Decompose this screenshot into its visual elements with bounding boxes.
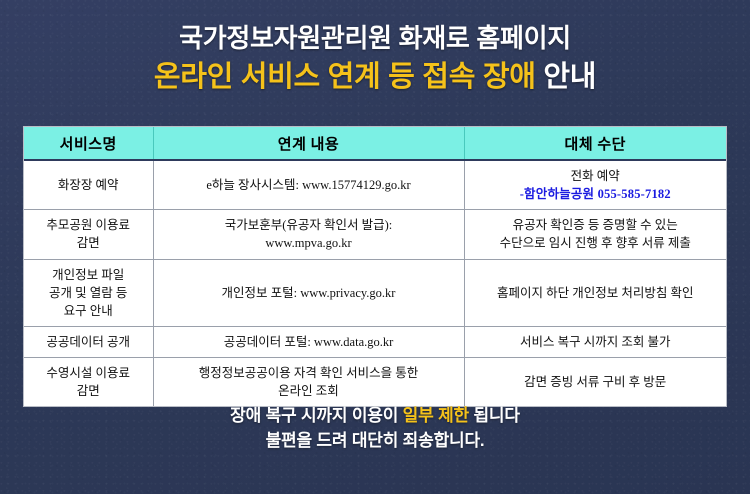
poster-title: 국가정보자원관리원 화재로 홈페이지 온라인 서비스 연계 등 접속 장애 안내: [0, 22, 750, 96]
cell-alternative-means: 전화 예약 -함안하늘공원 055-585-7182: [464, 160, 726, 210]
table-row: 수영시설 이용료 감면 행정정보공공이용 자격 확인 서비스을 통한 온라인 조…: [24, 358, 726, 407]
service-line-2: 감면: [29, 234, 148, 252]
service-table: 서비스명 연계 내용 대체 수단 화장장 예약 e하늘 장사시스템: www.1…: [24, 127, 726, 406]
table-header: 서비스명 연계 내용 대체 수단: [24, 127, 726, 160]
cell-alternative-means: 감면 증빙 서류 구비 후 방문: [464, 358, 726, 407]
poster-footer: 장애 복구 시까지 이용이 일부 제한 됩니다 불편을 드려 대단히 죄송합니다…: [0, 404, 750, 453]
cell-link-content: 개인정보 포털: www.privacy.go.kr: [153, 259, 464, 326]
cell-link-content: 행정정보공공이용 자격 확인 서비스을 통한 온라인 조회: [153, 358, 464, 407]
cell-link-content: 국가보훈부(유공자 확인서 발급): www.mpva.go.kr: [153, 210, 464, 259]
link-line-2: 온라인 조회: [159, 382, 459, 400]
cell-service-name: 화장장 예약: [24, 160, 153, 210]
cell-service-name: 공공데이터 공개: [24, 326, 153, 357]
cell-link-content: e하늘 장사시스템: www.15774129.go.kr: [153, 160, 464, 210]
table-row: 공공데이터 공개 공공데이터 포털: www.data.go.kr 서비스 복구…: [24, 326, 726, 357]
service-line-2: 공개 및 열람 등: [29, 284, 148, 302]
service-line-1: 추모공원 이용료: [29, 216, 148, 234]
alt-line-1: 전화 예약: [470, 167, 722, 185]
service-line-2: 감면: [29, 382, 148, 400]
cell-alternative-means: 홈페이지 하단 개인정보 처리방침 확인: [464, 259, 726, 326]
table-row: 개인정보 파일 공개 및 열람 등 요구 안내 개인정보 포털: www.pri…: [24, 259, 726, 326]
table-body: 화장장 예약 e하늘 장사시스템: www.15774129.go.kr 전화 …: [24, 160, 726, 406]
link-line-1: 행정정보공공이용 자격 확인 서비스을 통한: [159, 364, 459, 382]
footer-suffix: 됩니다: [469, 406, 520, 425]
column-header-service-name: 서비스명: [24, 127, 153, 160]
alt-line-1: 유공자 확인증 등 증명할 수 있는: [470, 216, 722, 234]
service-line-1: 수영시설 이용료: [29, 364, 148, 382]
title-line-2: 온라인 서비스 연계 등 접속 장애 안내: [0, 59, 750, 96]
table-header-row: 서비스명 연계 내용 대체 수단: [24, 127, 726, 160]
column-header-link-content: 연계 내용: [153, 127, 464, 160]
title-tail: 안내: [536, 61, 597, 93]
footer-prefix: 장애 복구 시까지 이용이: [230, 406, 403, 425]
link-line-1: 국가보훈부(유공자 확인서 발급):: [159, 216, 459, 234]
cell-service-name: 추모공원 이용료 감면: [24, 210, 153, 259]
table-row: 화장장 예약 e하늘 장사시스템: www.15774129.go.kr 전화 …: [24, 160, 726, 210]
link-line-2: www.mpva.go.kr: [159, 234, 459, 252]
footer-line-2: 불편을 드려 대단히 죄송합니다.: [0, 429, 750, 454]
alt-line-2: 수단으로 임시 진행 후 향후 서류 제출: [470, 234, 722, 252]
title-line-1: 국가정보자원관리원 화재로 홈페이지: [0, 22, 750, 55]
cell-link-content: 공공데이터 포털: www.data.go.kr: [153, 326, 464, 357]
service-line-3: 요구 안내: [29, 302, 148, 320]
cell-service-name: 개인정보 파일 공개 및 열람 등 요구 안내: [24, 259, 153, 326]
alt-phone-contact: -함안하늘공원 055-585-7182: [470, 185, 722, 203]
service-line-1: 개인정보 파일: [29, 266, 148, 284]
service-table-container: 서비스명 연계 내용 대체 수단 화장장 예약 e하늘 장사시스템: www.1…: [23, 126, 727, 407]
footer-highlight: 일부 제한: [403, 406, 469, 425]
column-header-alternative-means: 대체 수단: [464, 127, 726, 160]
cell-service-name: 수영시설 이용료 감면: [24, 358, 153, 407]
cell-alternative-means: 서비스 복구 시까지 조회 불가: [464, 326, 726, 357]
notice-poster: 국가정보자원관리원 화재로 홈페이지 온라인 서비스 연계 등 접속 장애 안내…: [0, 0, 750, 494]
footer-line-1: 장애 복구 시까지 이용이 일부 제한 됩니다: [0, 404, 750, 429]
title-highlight: 온라인 서비스 연계 등 접속 장애: [154, 61, 536, 93]
table-row: 추모공원 이용료 감면 국가보훈부(유공자 확인서 발급): www.mpva.…: [24, 210, 726, 259]
cell-alternative-means: 유공자 확인증 등 증명할 수 있는 수단으로 임시 진행 후 향후 서류 제출: [464, 210, 726, 259]
